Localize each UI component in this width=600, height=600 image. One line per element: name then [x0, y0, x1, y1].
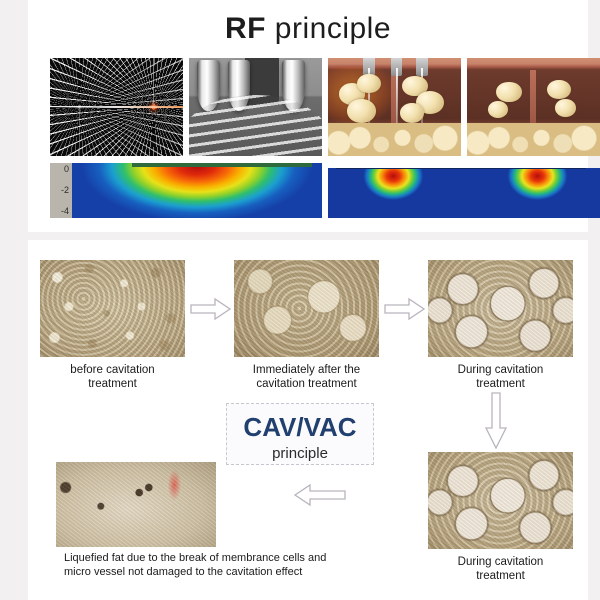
arrow-left-during-to-liquefied [293, 482, 347, 508]
image-rf-electrodes-grayscale [189, 58, 322, 156]
tissue-grain [40, 260, 185, 357]
image-thermal-map-uniform: 0 -2 -4 [50, 163, 322, 218]
image-liquefied-fat-micro-vessel [56, 462, 216, 547]
tissue-grain [428, 452, 573, 549]
page-title: RF principle [28, 12, 588, 46]
image-thermal-map-focal [328, 168, 600, 218]
page-title-bold: RF [225, 12, 266, 45]
wave-fronts [189, 95, 322, 156]
thermal-map-depth-axis: 0 -2 -4 [50, 163, 72, 218]
image-fat-tissue-during-cavitation-bottom [428, 452, 573, 549]
fat-cell [547, 80, 571, 100]
fat-cell [496, 82, 521, 103]
fat-cell [400, 103, 424, 123]
cav-vac-subtitle: principle [227, 445, 373, 462]
image-fat-tissue-before-cavitation [40, 260, 185, 357]
skin-septum [530, 70, 537, 125]
axis-tick--4: -4 [61, 206, 69, 216]
image-fat-tissue-immediately-after-cavitation [234, 260, 379, 357]
caption-during-cavitation-top: During cavitation treatment [428, 363, 573, 391]
cav-vac-principle-box: CAV/VAC principle [226, 403, 374, 465]
tissue-grain [56, 462, 216, 547]
fat-cell [488, 101, 508, 118]
arrow-right-after-to-during [384, 297, 426, 321]
image-magnetic-field-lines [50, 58, 183, 156]
caption-immediately-after-cavitation: Immediately after the cavitation treatme… [224, 363, 389, 391]
fat-cell [555, 99, 576, 117]
applicator-surface [132, 163, 312, 167]
tissue-grain [234, 260, 379, 357]
caption-liquefied-fat: Liquefied fat due to the break of membra… [64, 552, 394, 579]
caption-before-cavitation: before cavitation treatment [40, 363, 185, 391]
thermal-map-body [72, 163, 322, 218]
subcutaneous-fat-layer [467, 123, 600, 156]
axis-tick-0: 0 [64, 164, 69, 174]
page-title-rest: principle [266, 12, 391, 45]
poster-root: RF principle [0, 0, 600, 600]
cavitation-principle-card: before cavitation treatment Immediately … [28, 240, 588, 600]
cav-vac-title: CAV/VAC [227, 412, 373, 443]
subcutaneous-fat-layer [328, 123, 461, 156]
applicator-bar [336, 168, 586, 169]
arrow-right-before-to-after [190, 297, 232, 321]
tissue-grain [428, 260, 573, 357]
caption-during-cavitation-bottom: During cavitation treatment [428, 555, 573, 583]
image-skin-cross-section-rf-active [328, 58, 461, 156]
image-fat-tissue-during-cavitation-top [428, 260, 573, 357]
fat-cell [347, 99, 376, 123]
image-skin-cross-section-after [467, 58, 600, 156]
arrow-down-during-to-during [483, 392, 509, 450]
rf-principle-card: RF principle [28, 0, 588, 232]
axis-tick--2: -2 [61, 185, 69, 195]
